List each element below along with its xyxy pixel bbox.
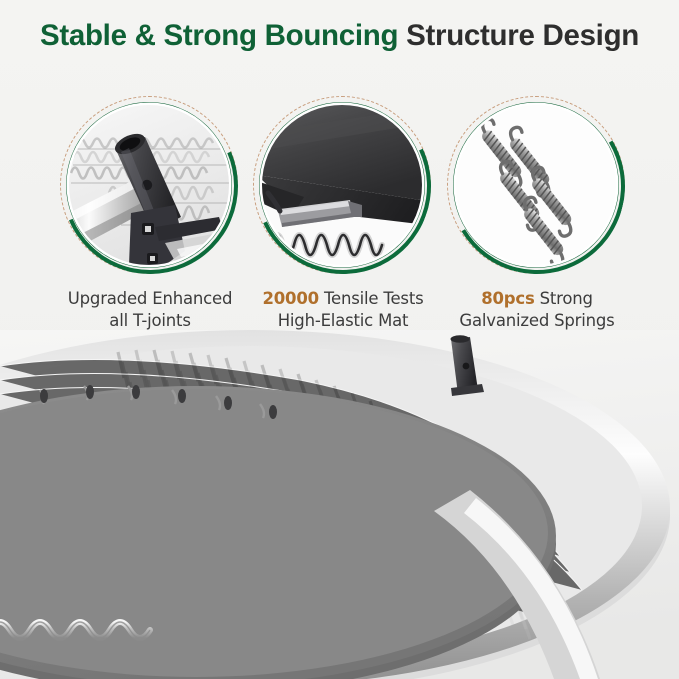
product-photo-trampoline (0, 330, 679, 679)
feature-circle-springs (447, 96, 627, 276)
page-title-dark-part: Structure Design (398, 19, 639, 52)
caption-highlight: 20000 (263, 289, 319, 308)
feature-item-t-joints: Upgraded Enhanced all T-joints (50, 96, 250, 332)
caption-rest: Strong (535, 289, 593, 308)
feature-caption-t-joints: Upgraded Enhanced all T-joints (50, 288, 250, 332)
feature-caption-mat: 20000 Tensile Tests High-Elastic Mat (243, 288, 443, 332)
page-title-green-part: Stable & Strong Bouncing (40, 19, 398, 52)
feature-caption-springs: 80pcs Strong Galvanized Springs (437, 288, 637, 332)
caption-rest: Tensile Tests (319, 289, 424, 308)
feature-image-mat (262, 105, 422, 265)
feature-item-mat: 20000 Tensile Tests High-Elastic Mat (243, 96, 443, 332)
caption-rest: Upgraded Enhanced (68, 289, 232, 308)
caption-line2: Galvanized Springs (437, 310, 637, 332)
caption-highlight: 80pcs (481, 289, 534, 308)
page-title: Stable & Strong Bouncing Structure Desig… (0, 20, 679, 52)
feature-circle-t-joints (60, 96, 240, 276)
caption-line2: High-Elastic Mat (243, 310, 443, 332)
caption-line2: all T-joints (50, 310, 250, 332)
feature-circle-mat (253, 96, 433, 276)
feature-list: Upgraded Enhanced all T-joints (0, 96, 679, 326)
feature-item-springs: 80pcs Strong Galvanized Springs (437, 96, 637, 332)
infographic-page: Stable & Strong Bouncing Structure Desig… (0, 0, 679, 679)
feature-image-springs (456, 105, 616, 265)
feature-image-t-joint (69, 105, 229, 265)
